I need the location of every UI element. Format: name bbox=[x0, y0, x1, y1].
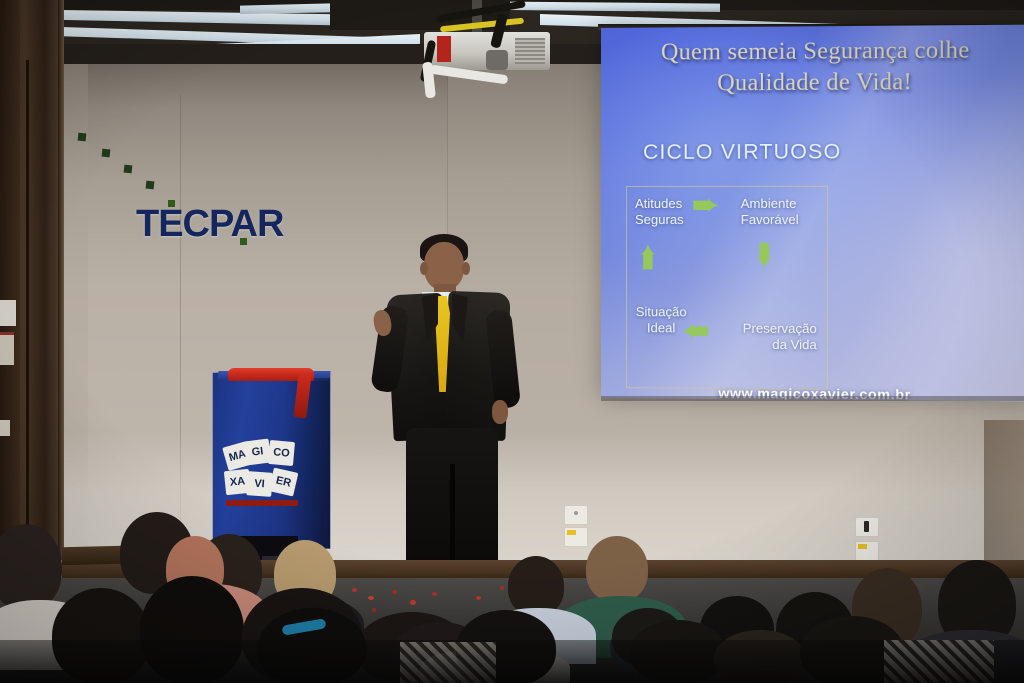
tecpar-logo-accent bbox=[168, 200, 175, 207]
magician-logo-card: VI bbox=[246, 471, 273, 497]
cycle-node-atitudes-line2: Seguras bbox=[635, 212, 699, 228]
presentation-room-photo: TECPAR Quem semeia Segurança colhe Quali… bbox=[0, 0, 1024, 683]
wall-trim-right bbox=[984, 420, 1024, 560]
wall-outlet bbox=[564, 505, 588, 525]
presenter bbox=[372, 228, 542, 568]
door-plate bbox=[0, 300, 16, 326]
confetti bbox=[432, 592, 437, 596]
cycle-node-ambiente-line1: Ambiente bbox=[741, 196, 814, 212]
outlet-label bbox=[567, 530, 576, 535]
wall-accent-square bbox=[146, 181, 155, 190]
projection-screen: Quem semeia Segurança colhe Qualidade de… bbox=[601, 25, 1024, 402]
wall-accent-square bbox=[102, 149, 111, 158]
door-edge bbox=[58, 0, 64, 560]
presenter-hand-right bbox=[492, 400, 508, 424]
cycle-node-atitudes: Atitudes Seguras bbox=[635, 196, 699, 229]
slide-title: Quem semeia Segurança colhe Qualidade de… bbox=[601, 35, 1024, 100]
confetti bbox=[476, 596, 481, 600]
magician-logo-bar bbox=[226, 500, 298, 506]
door-plate-red bbox=[0, 332, 14, 365]
wall-switch bbox=[564, 527, 588, 547]
slide-title-line1: Quem semeia Segurança colhe bbox=[601, 35, 1024, 69]
projector-lens bbox=[486, 50, 508, 70]
cycle-node-preservacao-line2: da Vida bbox=[730, 337, 817, 354]
wall-switch bbox=[855, 517, 879, 537]
slide-title-line2: Qualidade de Vida! bbox=[601, 66, 1024, 99]
outlet-hole bbox=[574, 511, 578, 515]
cycle-arrow-left-icon: ➨ bbox=[681, 314, 710, 348]
wall-accent-square bbox=[78, 133, 87, 142]
confetti bbox=[500, 586, 504, 590]
projector-label bbox=[437, 36, 451, 62]
confetti bbox=[368, 596, 374, 600]
magician-logo-card: CO bbox=[268, 440, 295, 466]
foreground-shadow bbox=[0, 640, 1024, 683]
tecpar-logo-accent bbox=[240, 238, 247, 245]
confetti bbox=[352, 588, 357, 592]
door-plate-lower bbox=[0, 420, 10, 436]
audience-head bbox=[508, 556, 564, 616]
slide-subtitle: CICLO VIRTUOSO bbox=[643, 140, 841, 165]
magician-logo: MA GI CO XA VI ER bbox=[225, 440, 299, 496]
cycle-node-ambiente: Ambiente Favorável bbox=[741, 196, 814, 229]
cycle-node-preservacao-line1: Preservação bbox=[730, 321, 817, 338]
cycle-arrow-up-icon: ➨ bbox=[630, 243, 664, 272]
confetti bbox=[410, 600, 416, 605]
magician-logo-card: ER bbox=[269, 467, 299, 496]
cycle-node-atitudes-line1: Atitudes bbox=[635, 196, 699, 212]
presenter-ear bbox=[462, 262, 470, 275]
cycle-node-ambiente-line2: Favorável bbox=[741, 212, 814, 228]
wall-accent-square bbox=[124, 165, 133, 174]
outlet-label bbox=[858, 544, 867, 549]
cycle-arrow-down-icon: ➨ bbox=[747, 241, 781, 270]
wall-outlet bbox=[855, 541, 879, 561]
door-frame-left-inner bbox=[0, 0, 20, 560]
audience-head bbox=[586, 536, 648, 602]
confetti bbox=[392, 590, 397, 594]
cycle-arrow-right-icon: ➨ bbox=[691, 188, 720, 222]
cycle-node-preservacao: Preservação da Vida bbox=[730, 321, 817, 354]
presenter-ear bbox=[420, 262, 428, 275]
presenter-head bbox=[424, 242, 464, 290]
tecpar-logo: TECPAR bbox=[136, 203, 283, 246]
confetti bbox=[372, 608, 376, 612]
switch-rocker bbox=[864, 521, 869, 532]
door-groove bbox=[26, 60, 29, 540]
projector-vent bbox=[515, 38, 545, 64]
presenter-leg-split bbox=[450, 464, 455, 572]
screen-bottom-edge bbox=[601, 396, 1024, 401]
